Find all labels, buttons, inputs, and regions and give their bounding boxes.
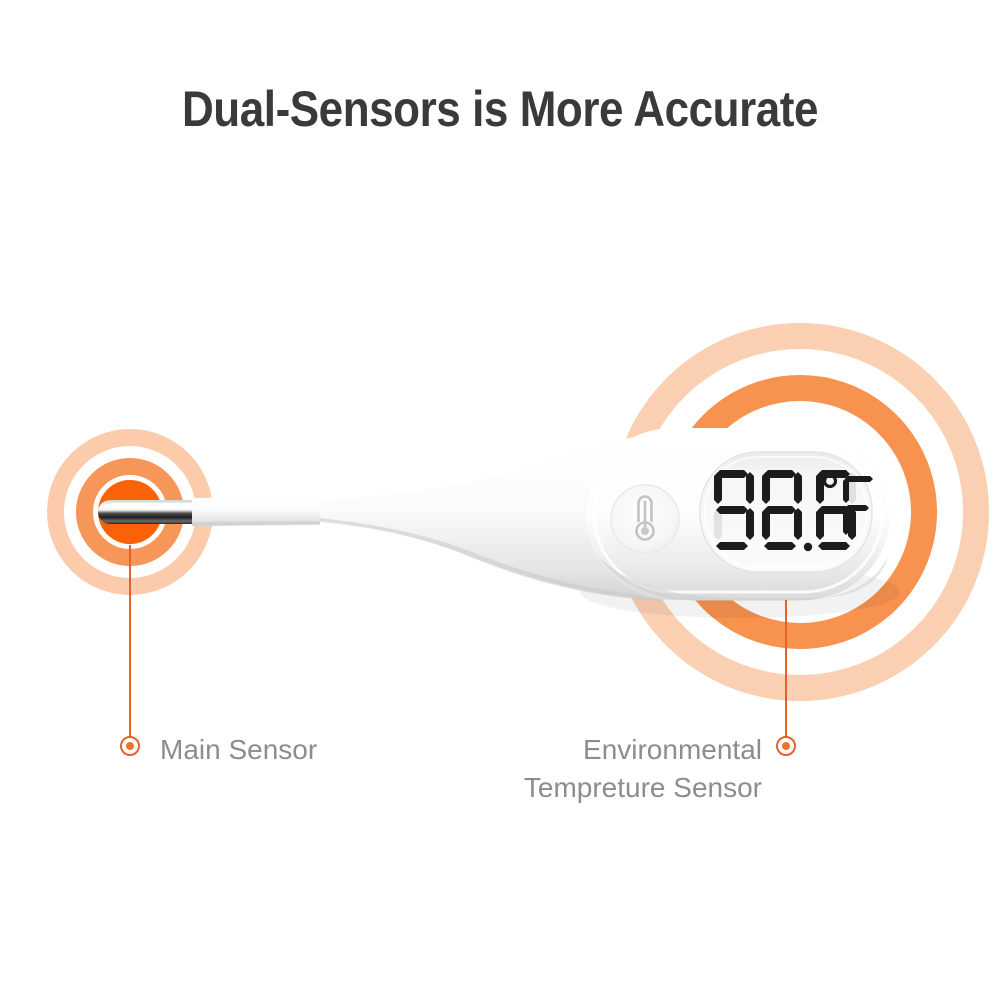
main-sensor-leader-line xyxy=(129,545,131,745)
environmental-sensor-label: Environmental Tempreture Sensor xyxy=(524,731,762,807)
infographic-page: Dual-Sensors is More Accurate xyxy=(0,0,1000,1000)
thermometer-neck xyxy=(196,434,660,600)
main-sensor-core xyxy=(98,480,162,544)
main-sensor-marker xyxy=(120,736,140,756)
product-illustration: Main Sensor Environmental Tempreture Sen… xyxy=(0,0,1000,1000)
environmental-sensor-ring-inner xyxy=(663,375,937,649)
environmental-sensor-label-line1: Environmental xyxy=(583,734,762,765)
main-sensor-label: Main Sensor xyxy=(160,731,317,769)
environmental-sensor-label-line2: Tempreture Sensor xyxy=(524,769,762,807)
environmental-sensor-leader-line xyxy=(785,600,787,745)
environmental-sensor-marker xyxy=(776,736,796,756)
